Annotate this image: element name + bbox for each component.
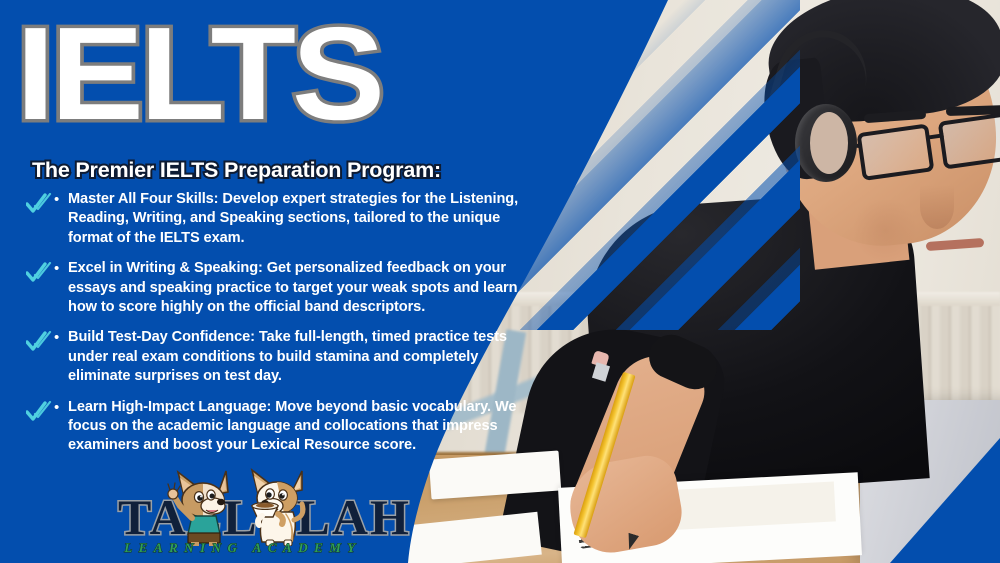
logo-tagline: LEARNING ACADEMY xyxy=(118,540,368,556)
lens-left xyxy=(856,123,934,181)
double-check-icon xyxy=(24,331,54,353)
double-check-icon xyxy=(24,401,54,423)
list-item-text: Build Test-Day Confidence: Take full-len… xyxy=(68,328,524,386)
double-check-icon xyxy=(24,193,54,215)
list-item-body: • Excel in Writing & Speaking: Get perso… xyxy=(54,259,524,317)
bullet-marker: • xyxy=(54,190,68,248)
hero-subtitle: The Premier IELTS Preparation Program: xyxy=(32,158,441,183)
headphone-earpad xyxy=(810,112,848,174)
double-check-icon xyxy=(24,262,54,284)
list-item-text: Master All Four Skills: Develop expert s… xyxy=(68,190,524,248)
list-item-body: • Build Test-Day Confidence: Take full-l… xyxy=(54,328,524,386)
bullet-marker: • xyxy=(54,259,68,317)
list-item-text: Learn High-Impact Language: Move beyond … xyxy=(68,398,524,456)
poster-canvas: IELTS The Premier IELTS Preparation Prog… xyxy=(0,0,1000,563)
list-item: • Master All Four Skills: Develop expert… xyxy=(24,190,524,248)
list-item-text: Excel in Writing & Speaking: Get persona… xyxy=(68,259,524,317)
benefits-list: • Master All Four Skills: Develop expert… xyxy=(24,190,524,467)
cheek-shading xyxy=(850,200,920,260)
list-item: • Learn High-Impact Language: Move beyon… xyxy=(24,398,524,456)
list-item-body: • Learn High-Impact Language: Move beyon… xyxy=(54,398,524,456)
tallulah-learning-academy-logo: TALLULAH xyxy=(118,466,368,563)
content-column: IELTS The Premier IELTS Preparation Prog… xyxy=(0,0,560,563)
nose xyxy=(920,185,954,229)
list-item-body: • Master All Four Skills: Develop expert… xyxy=(54,190,524,248)
chihuahua-with-bowl-icon xyxy=(252,470,303,546)
list-item: • Build Test-Day Confidence: Take full-l… xyxy=(24,328,524,386)
chihuahua-waving-icon xyxy=(168,471,228,546)
list-item: • Excel in Writing & Speaking: Get perso… xyxy=(24,259,524,317)
bullet-marker: • xyxy=(54,328,68,386)
page-title: IELTS xyxy=(16,8,381,140)
bullet-marker: • xyxy=(54,398,68,456)
lens-right xyxy=(938,112,1000,170)
mascot-group xyxy=(166,466,326,546)
